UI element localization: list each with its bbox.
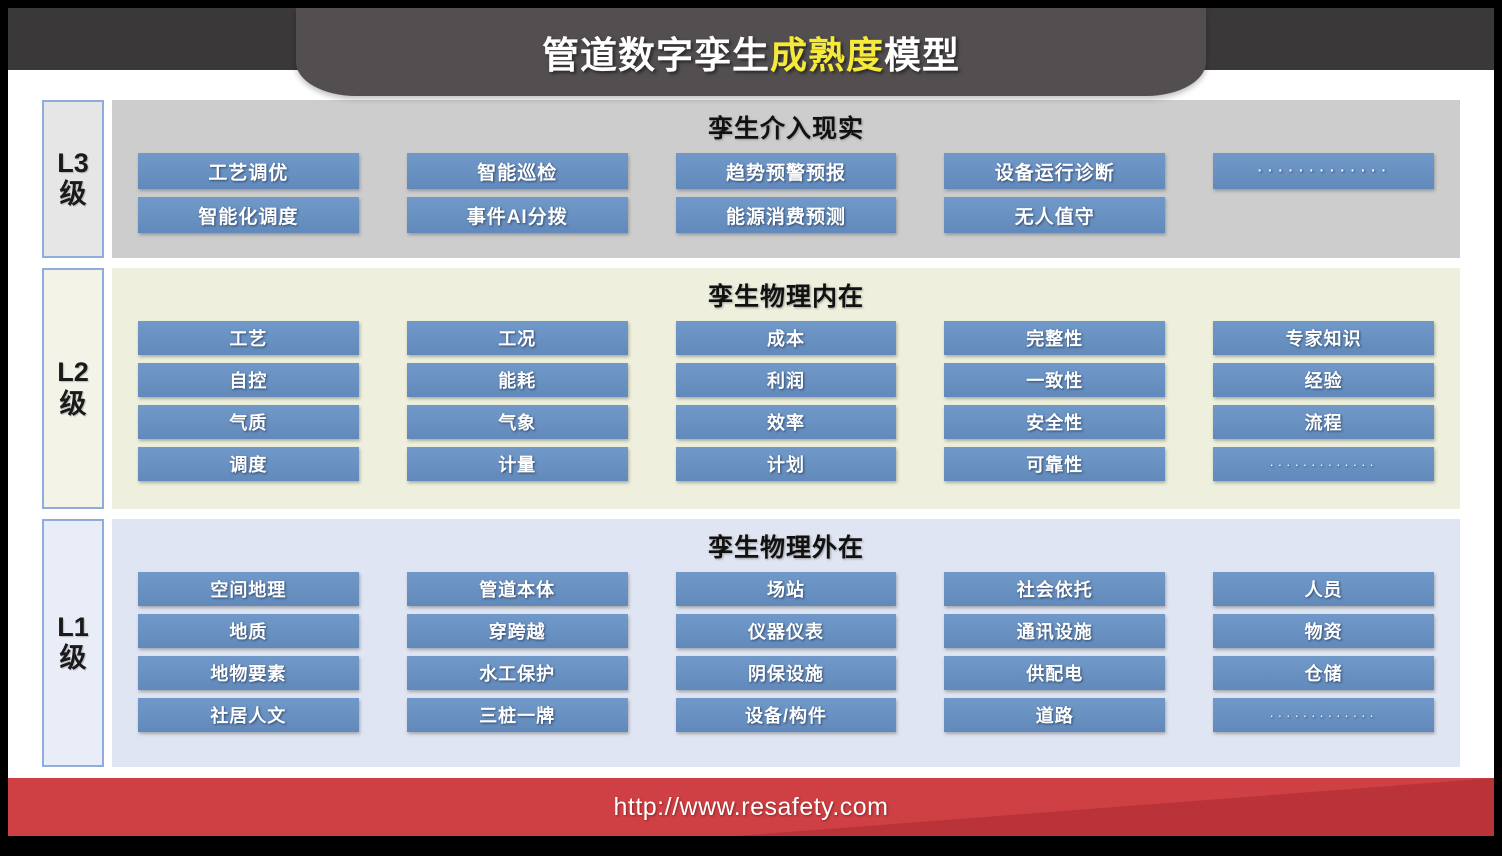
l3-column-4: 设备运行诊断 无人值守	[944, 153, 1165, 233]
chip[interactable]: 自控	[138, 363, 359, 397]
chip[interactable]: 智能巡检	[407, 153, 628, 189]
chip[interactable]: 水工保护	[407, 656, 628, 690]
chip[interactable]: 人员	[1213, 572, 1434, 606]
l3-column-2: 智能巡检 事件AI分拨	[407, 153, 628, 233]
title-banner: 管道数字孪生成熟度模型	[296, 8, 1206, 96]
chip[interactable]: 工艺调优	[138, 153, 359, 189]
chip[interactable]: 地质	[138, 614, 359, 648]
l3-column-5: ·············	[1213, 153, 1434, 233]
chip[interactable]: 三桩一牌	[407, 698, 628, 732]
level-badge-l1-line1: L1	[57, 612, 89, 643]
level-badge-l3-line1: L3	[57, 148, 89, 179]
level-badge-l1[interactable]: L1 级	[42, 519, 104, 767]
chip[interactable]: 经验	[1213, 363, 1434, 397]
chip[interactable]: 智能化调度	[138, 197, 359, 233]
level-badge-l1-line2: 级	[60, 643, 87, 674]
chip[interactable]: 效率	[676, 405, 897, 439]
letterbox-bottom	[0, 836, 1502, 856]
chip[interactable]: 无人值守	[944, 197, 1165, 233]
page-title-suffix: 模型	[884, 35, 960, 76]
l3-column-1: 工艺调优 智能化调度	[138, 153, 359, 233]
chip[interactable]: 物资	[1213, 614, 1434, 648]
maturity-row-l2-grid: 工艺 自控 气质 调度 工况 能耗 气象 计量 成本 利润 效率	[130, 321, 1442, 481]
l1-column-3: 场站 仪器仪表 阴保设施 设备/构件	[676, 572, 897, 732]
chip[interactable]: 气质	[138, 405, 359, 439]
chip[interactable]: 仪器仪表	[676, 614, 897, 648]
l2-column-5: 专家知识 经验 流程 ·············	[1213, 321, 1434, 481]
chip[interactable]: 穿跨越	[407, 614, 628, 648]
chip[interactable]: 工况	[407, 321, 628, 355]
level-badge-l3-line2: 级	[60, 179, 87, 210]
maturity-row-l1-grid: 空间地理 地质 地物要素 社居人文 管道本体 穿跨越 水工保护 三桩一牌 场站 …	[130, 572, 1442, 732]
page-title-prefix: 管道数字孪生	[542, 35, 770, 76]
level-badge-l2-line2: 级	[60, 389, 87, 420]
chip[interactable]: 阴保设施	[676, 656, 897, 690]
chip[interactable]: 计划	[676, 447, 897, 481]
chip[interactable]: 一致性	[944, 363, 1165, 397]
chip[interactable]: 设备运行诊断	[944, 153, 1165, 189]
slide-canvas: 管道数字孪生成熟度模型 L3 级 孪生介入现实 工艺调优 智能化调度 智能巡检 …	[0, 0, 1502, 856]
chip[interactable]: 社会依托	[944, 572, 1165, 606]
chip[interactable]: 工艺	[138, 321, 359, 355]
level-badge-l2[interactable]: L2 级	[42, 268, 104, 509]
chip[interactable]: 可靠性	[944, 447, 1165, 481]
maturity-row-l1-body: 孪生物理外在 空间地理 地质 地物要素 社居人文 管道本体 穿跨越 水工保护 三…	[112, 519, 1460, 767]
chip[interactable]: 供配电	[944, 656, 1165, 690]
page-title: 管道数字孪生成熟度模型	[542, 25, 960, 79]
l3-column-3: 趋势预警预报 能源消费预测	[676, 153, 897, 233]
chip[interactable]: 能耗	[407, 363, 628, 397]
letterbox-left	[0, 0, 8, 856]
chip[interactable]: 管道本体	[407, 572, 628, 606]
page-title-highlight: 成熟度	[770, 35, 884, 76]
maturity-row-l1-title: 孪生物理外在	[130, 523, 1442, 572]
letterbox-top	[0, 0, 1502, 8]
l1-column-4: 社会依托 通讯设施 供配电 道路	[944, 572, 1165, 732]
chip[interactable]: 趋势预警预报	[676, 153, 897, 189]
l2-column-1: 工艺 自控 气质 调度	[138, 321, 359, 481]
maturity-row-l2-body: 孪生物理内在 工艺 自控 气质 调度 工况 能耗 气象 计量	[112, 268, 1460, 509]
l1-column-1: 空间地理 地质 地物要素 社居人文	[138, 572, 359, 732]
maturity-row-l3-body: 孪生介入现实 工艺调优 智能化调度 智能巡检 事件AI分拨 趋势预警预报 能源消…	[112, 100, 1460, 258]
maturity-row-l1: L1 级 孪生物理外在 空间地理 地质 地物要素 社居人文 管道本体 穿跨越 水…	[42, 519, 1460, 767]
chip[interactable]: 事件AI分拨	[407, 197, 628, 233]
chip[interactable]: 设备/构件	[676, 698, 897, 732]
chip-placeholder-dots[interactable]: ·············	[1213, 153, 1434, 189]
chip[interactable]: 安全性	[944, 405, 1165, 439]
chip-placeholder-dots[interactable]: ·············	[1213, 447, 1434, 481]
level-badge-l2-line1: L2	[57, 357, 89, 388]
chip[interactable]: 社居人文	[138, 698, 359, 732]
chip[interactable]: 通讯设施	[944, 614, 1165, 648]
chip[interactable]: 利润	[676, 363, 897, 397]
l1-column-5: 人员 物资 仓储 ·············	[1213, 572, 1434, 732]
l2-column-4: 完整性 一致性 安全性 可靠性	[944, 321, 1165, 481]
chip[interactable]: 空间地理	[138, 572, 359, 606]
l2-column-2: 工况 能耗 气象 计量	[407, 321, 628, 481]
maturity-row-l3-grid: 工艺调优 智能化调度 智能巡检 事件AI分拨 趋势预警预报 能源消费预测 设备运…	[130, 153, 1442, 233]
chip[interactable]: 计量	[407, 447, 628, 481]
maturity-model-board: L3 级 孪生介入现实 工艺调优 智能化调度 智能巡检 事件AI分拨 趋势预警预…	[8, 100, 1494, 790]
chip[interactable]: 流程	[1213, 405, 1434, 439]
maturity-row-l3-title: 孪生介入现实	[130, 104, 1442, 153]
maturity-row-l3: L3 级 孪生介入现实 工艺调优 智能化调度 智能巡检 事件AI分拨 趋势预警预…	[42, 100, 1460, 258]
chip[interactable]: 调度	[138, 447, 359, 481]
letterbox-right	[1494, 0, 1502, 856]
l1-column-2: 管道本体 穿跨越 水工保护 三桩一牌	[407, 572, 628, 732]
chip[interactable]: 能源消费预测	[676, 197, 897, 233]
chip[interactable]: 完整性	[944, 321, 1165, 355]
chip[interactable]: 场站	[676, 572, 897, 606]
maturity-row-l2-title: 孪生物理内在	[130, 272, 1442, 321]
level-badge-l3[interactable]: L3 级	[42, 100, 104, 258]
slide-footer: http://www.resafety.com	[8, 778, 1494, 836]
chip[interactable]: 气象	[407, 405, 628, 439]
chip[interactable]: 专家知识	[1213, 321, 1434, 355]
chip[interactable]: 道路	[944, 698, 1165, 732]
chip-placeholder-dots[interactable]: ·············	[1213, 698, 1434, 732]
chip[interactable]: 成本	[676, 321, 897, 355]
chip[interactable]: 仓储	[1213, 656, 1434, 690]
maturity-row-l2: L2 级 孪生物理内在 工艺 自控 气质 调度 工况 能耗 气象	[42, 268, 1460, 509]
l2-column-3: 成本 利润 效率 计划	[676, 321, 897, 481]
footer-url[interactable]: http://www.resafety.com	[8, 778, 1494, 836]
chip[interactable]: 地物要素	[138, 656, 359, 690]
